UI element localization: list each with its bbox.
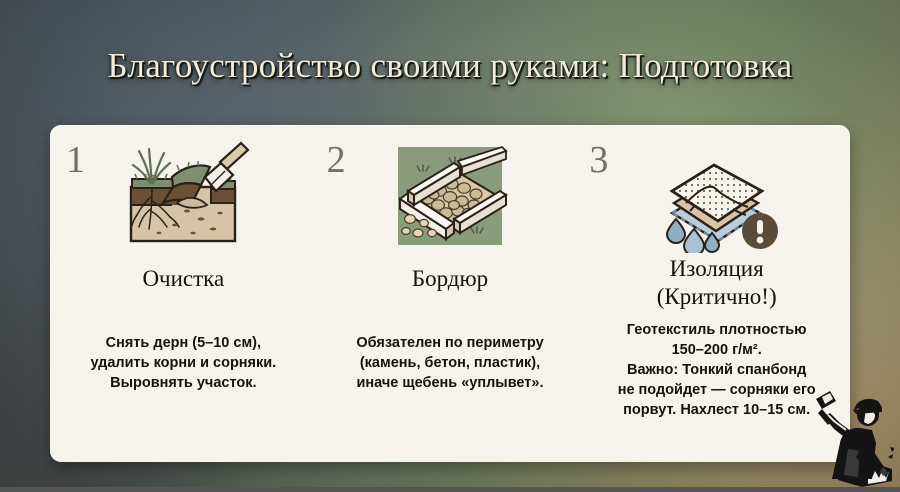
border-edging-icon: [317, 141, 584, 251]
step-3-body-line: 150–200 г/м².: [601, 340, 832, 360]
stonemason-logo-icon: [810, 383, 894, 487]
step-2-body-line: Обязателен по периметру: [335, 333, 566, 353]
steps-card: 1: [50, 125, 850, 462]
turf-removal-icon: [50, 141, 317, 251]
step-3-body-line: не подойдет — сорняки его: [601, 380, 832, 400]
step-1-body: Снять дерн (5–10 см), удалить корни и со…: [50, 333, 317, 393]
step-1-body-line: Снять дерн (5–10 см),: [68, 333, 299, 353]
step-3-heading: Изоляция (Критично!): [583, 255, 850, 311]
step-3-body-line: Геотекстиль плотностью: [601, 320, 832, 340]
steps-columns: 1: [50, 125, 850, 462]
geotextile-layers-icon: [583, 141, 850, 253]
step-2-column: 2: [317, 125, 584, 462]
step-3-body-line: порвут. Нахлест 10–15 см.: [601, 400, 832, 420]
page-title: Благоустройство своими руками: Подготовк…: [0, 44, 900, 88]
step-3-body-line: Важно: Тонкий спанбонд: [601, 360, 832, 380]
step-1-heading: Очистка: [50, 265, 317, 293]
step-1-column: 1: [50, 125, 317, 462]
step-2-body: Обязателен по периметру (камень, бетон, …: [317, 333, 584, 393]
step-2-body-line: иначе щебень «уплывет».: [335, 373, 566, 393]
step-1-body-line: удалить корни и сорняки.: [68, 353, 299, 373]
step-3-heading-line: (Критично!): [583, 283, 850, 311]
step-3-heading-line: Изоляция: [583, 255, 850, 283]
step-1-body-line: Выровнять участок.: [68, 373, 299, 393]
step-2-body-line: (камень, бетон, пластик),: [335, 353, 566, 373]
step-2-heading: Бордюр: [317, 265, 584, 293]
